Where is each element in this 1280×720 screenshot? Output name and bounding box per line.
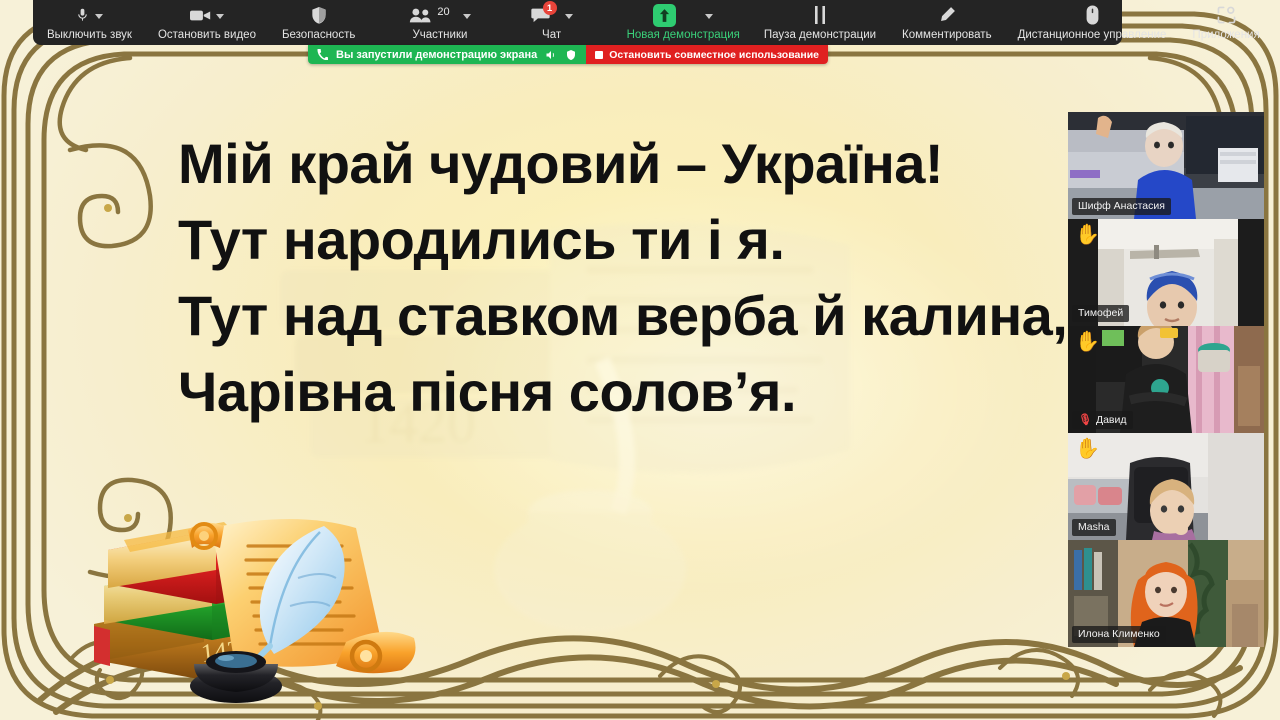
- participant-name-badge: Илона Клименко: [1072, 626, 1166, 643]
- video-tile-timofey[interactable]: ✋ Тимофей: [1068, 219, 1264, 326]
- share-screen-up-arrow-icon: [653, 5, 676, 25]
- chat-caret-icon[interactable]: [565, 14, 573, 19]
- video-tile-ilona[interactable]: Илона Клименко: [1068, 540, 1264, 647]
- books-scroll-quill-illustration: 1420 Slytb G: [84, 474, 424, 704]
- participant-name-badge: Тимофей: [1072, 305, 1129, 322]
- shield-icon: [565, 49, 577, 61]
- video-options-caret-icon[interactable]: [216, 14, 224, 19]
- stop-square-icon: [595, 51, 603, 59]
- remote-control-label: Дистанционное управление: [1018, 29, 1167, 42]
- shield-icon: [311, 5, 327, 25]
- participant-video-strip[interactable]: Шифф Анастасия ✋ Тимофей: [1068, 112, 1264, 647]
- apps-label: Приложения: [1192, 29, 1259, 42]
- new-share-button[interactable]: Новая демонстрация: [621, 0, 746, 45]
- participant-name: Давид: [1096, 414, 1127, 426]
- pause-share-button[interactable]: Пауза демонстрации: [758, 0, 882, 45]
- participants-label: Участники: [412, 29, 467, 42]
- participants-button[interactable]: 20 Участники: [403, 0, 476, 45]
- mute-button[interactable]: Выключить звук: [41, 0, 138, 45]
- chat-unread-badge: 1: [543, 1, 557, 15]
- share-status-text: Вы запустили демонстрацию экрана: [336, 49, 537, 61]
- apps-bracket-icon: [1217, 5, 1236, 25]
- microphone-icon: [75, 5, 90, 25]
- stop-sharing-button[interactable]: Остановить совместное использование: [586, 45, 828, 64]
- security-label: Безопасность: [282, 29, 355, 42]
- share-status-section: Вы запустили демонстрацию экрана: [308, 45, 586, 64]
- participants-count: 20: [437, 6, 449, 18]
- stop-video-button[interactable]: Остановить видео: [152, 0, 262, 45]
- participant-name: Тимофей: [1078, 307, 1123, 319]
- video-tile-active-speaker[interactable]: Шифф Анастасия: [1068, 112, 1264, 219]
- annotate-label: Комментировать: [902, 29, 992, 42]
- video-tile-masha[interactable]: ✋ Masha: [1068, 433, 1264, 540]
- poem-line-4: Чарівна пісня солов’я.: [178, 354, 1068, 430]
- participant-name: Masha: [1078, 521, 1110, 533]
- apps-button[interactable]: Приложения: [1186, 0, 1265, 45]
- participant-name: Илона Клименко: [1078, 628, 1160, 640]
- screen-share-status-bar[interactable]: Вы запустили демонстрацию экрана Останов…: [308, 45, 828, 64]
- speaker-icon: [545, 49, 557, 61]
- participant-name-badge: Шифф Анастасия: [1072, 198, 1171, 215]
- poem-line-2: Тут народились ти і я.: [178, 202, 1068, 278]
- annotate-button[interactable]: Комментировать: [896, 0, 998, 45]
- poem-line-3: Тут над ставком верба й калина,: [178, 278, 1068, 354]
- participants-icon: [409, 5, 433, 25]
- zoom-meeting-toolbar[interactable]: Выключить звук Остановить видео Безоп: [33, 0, 1122, 45]
- new-share-caret-icon[interactable]: [705, 14, 713, 19]
- pause-icon: [813, 5, 827, 25]
- mouse-icon: [1086, 5, 1099, 25]
- chat-bubble-icon: 1: [531, 5, 550, 25]
- participant-name-badge: Masha: [1072, 519, 1116, 536]
- raise-hand-icon: ✋: [1075, 332, 1100, 352]
- video-tile-david[interactable]: ✋ 🎙 Давид: [1068, 326, 1264, 433]
- participant-name: Шифф Анастасия: [1078, 200, 1165, 212]
- mute-options-caret-icon[interactable]: [95, 14, 103, 19]
- participant-name-badge: 🎙 Давид: [1072, 411, 1133, 429]
- phone-icon: [317, 49, 328, 60]
- mic-muted-icon: 🎙: [1078, 413, 1092, 426]
- chat-button[interactable]: 1 Чат: [525, 0, 579, 45]
- raise-hand-icon: ✋: [1075, 225, 1100, 245]
- participants-caret-icon[interactable]: [463, 14, 471, 19]
- raise-hand-icon: ✋: [1075, 439, 1100, 459]
- new-share-label: Новая демонстрация: [627, 29, 740, 42]
- stop-sharing-label: Остановить совместное использование: [609, 49, 819, 61]
- stop-video-label: Остановить видео: [158, 29, 256, 42]
- pause-share-label: Пауза демонстрации: [764, 29, 876, 42]
- video-camera-icon: [190, 5, 211, 25]
- pencil-icon: [938, 5, 956, 25]
- poem-line-1: Мій край чудовий – Україна!: [178, 126, 1068, 202]
- slide-poem-text: Мій край чудовий – Україна! Тут народили…: [178, 126, 1068, 430]
- chat-label: Чат: [542, 29, 561, 42]
- mute-label: Выключить звук: [47, 29, 132, 42]
- security-button[interactable]: Безопасность: [276, 0, 361, 45]
- remote-control-button[interactable]: Дистанционное управление: [1012, 0, 1173, 45]
